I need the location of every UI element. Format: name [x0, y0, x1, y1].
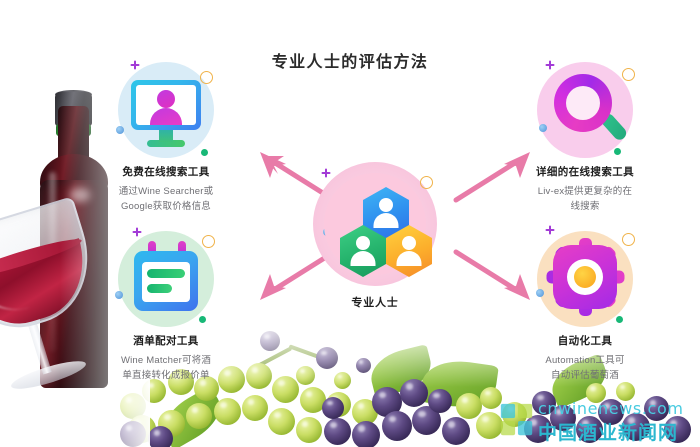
grape — [334, 372, 351, 389]
grape — [214, 398, 241, 425]
watermark-logo-icon — [498, 401, 536, 439]
monitor-person-icon — [118, 62, 214, 158]
ring-dot-decoration — [622, 233, 635, 246]
node-description: Liv-ex提供更复杂的在 线搜索 — [500, 184, 670, 214]
sparkle-icon — [545, 225, 554, 234]
grape — [296, 366, 315, 385]
center-label: 专业人士 — [303, 294, 447, 310]
watermark: cnwinenews.com 中国酒业新闻网 — [494, 399, 694, 443]
grape — [400, 379, 428, 407]
node-title: 免费在线搜索工具 — [81, 164, 251, 179]
grape — [428, 389, 452, 413]
vine-leaf — [419, 356, 499, 412]
grape — [300, 387, 326, 413]
node-title: 详细的在线搜索工具 — [500, 164, 670, 179]
grape — [316, 347, 338, 369]
grape — [120, 421, 146, 447]
vine-leaf — [366, 344, 436, 398]
node-desc-line-1: 通过Wine Searcher或 — [99, 184, 233, 199]
clipboard-line-2 — [147, 284, 172, 293]
magnifier-icon — [537, 62, 633, 158]
person-head — [157, 90, 175, 108]
glass-rim-highlight — [0, 223, 30, 322]
glass-foot — [9, 356, 88, 394]
watermark-site-name: 中国酒业新闻网 — [538, 418, 678, 445]
vine-leaf — [155, 386, 229, 447]
grape — [260, 331, 280, 351]
clipboard-card — [142, 262, 190, 302]
grape — [120, 393, 146, 419]
node-desc-line-1: Automation工具可 — [518, 353, 652, 368]
magnifier-lens — [566, 86, 600, 120]
node-icon-disc — [537, 231, 633, 327]
clipboard-list-icon — [118, 231, 214, 327]
node-bottom-left[interactable]: 酒单配对工具 Wine Matcher可将酒 单直接转化成报价单 — [81, 231, 251, 383]
node-description: Automation工具可 自动评估葡萄酒 — [500, 353, 670, 383]
node-desc-line-1: Wine Matcher可将酒 — [99, 353, 233, 368]
ring-dot-decoration — [420, 176, 433, 189]
blue-dot-decoration — [536, 289, 544, 297]
person-body — [397, 251, 422, 266]
node-description: Wine Matcher可将酒 单直接转化成报价单 — [81, 353, 251, 383]
node-icon-disc — [118, 231, 214, 327]
node-icon-disc — [537, 62, 633, 158]
grape — [412, 406, 441, 435]
grape — [322, 397, 344, 419]
person-head — [356, 236, 370, 250]
grape — [356, 358, 371, 373]
grape — [326, 392, 351, 417]
gear-center-dot — [574, 266, 596, 288]
green-dot-decoration — [616, 316, 623, 323]
person-head — [402, 236, 416, 250]
gear-icon — [553, 245, 617, 309]
center-node[interactable]: 专业人士 — [303, 162, 447, 310]
grape — [268, 408, 295, 435]
node-top-right[interactable]: 详细的在线搜索工具 Liv-ex提供更复杂的在 线搜索 — [500, 62, 670, 214]
grape — [456, 393, 482, 419]
clipboard-line-1 — [147, 269, 185, 278]
infographic-canvas: 专业人士的评估方法 — [0, 0, 700, 447]
grape — [324, 418, 351, 445]
center-circle-inner — [324, 173, 426, 275]
node-desc-line-2: 单直接转化成报价单 — [99, 368, 233, 383]
grape — [128, 415, 156, 443]
node-icon-disc — [118, 62, 214, 158]
grape — [158, 410, 185, 437]
node-desc-line-2: 线搜索 — [518, 199, 652, 214]
person-head — [379, 198, 393, 212]
node-title: 自动化工具 — [500, 333, 670, 348]
bottle-highlight — [49, 172, 56, 352]
node-title: 酒单配对工具 — [81, 333, 251, 348]
node-description: 通过Wine Searcher或 Google获取价格信息 — [81, 184, 251, 214]
sparkle-icon — [321, 168, 330, 177]
monitor-neck — [159, 130, 173, 142]
node-desc-line-1: Liv-ex提供更复杂的在 — [518, 184, 652, 199]
grape-stem — [289, 344, 328, 361]
grape — [352, 399, 378, 425]
glass-stem — [26, 316, 52, 374]
node-desc-line-2: Google获取价格信息 — [99, 199, 233, 214]
watermark-url: cnwinenews.com — [538, 399, 684, 418]
grape — [242, 395, 268, 421]
grape — [352, 421, 380, 447]
grape — [272, 376, 299, 403]
node-bottom-right[interactable]: 自动化工具 Automation工具可 自动评估葡萄酒 — [500, 231, 670, 383]
grape — [382, 411, 412, 441]
grape — [186, 403, 212, 429]
grape-stem — [250, 346, 292, 371]
grape — [442, 417, 470, 445]
node-top-left[interactable]: 免费在线搜索工具 通过Wine Searcher或 Google获取价格信息 — [81, 62, 251, 214]
person-body — [374, 213, 399, 228]
center-circle — [313, 162, 437, 286]
grape — [296, 417, 322, 443]
grape — [372, 387, 402, 417]
grape — [148, 426, 173, 447]
person-body — [351, 251, 376, 266]
wine-surface — [0, 234, 84, 285]
node-desc-line-2: 自动评估葡萄酒 — [518, 368, 652, 383]
